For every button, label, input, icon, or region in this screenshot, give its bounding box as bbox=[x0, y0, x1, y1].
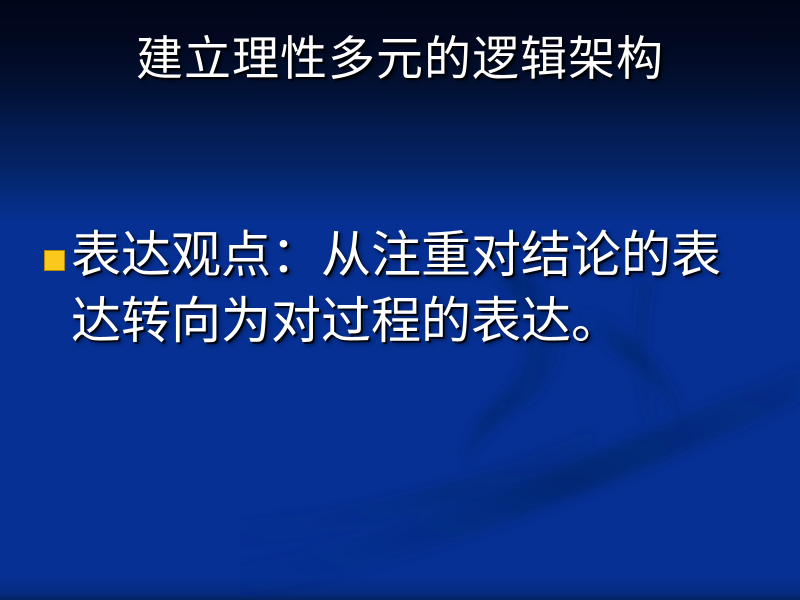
presentation-slide: 建立理性多元的逻辑架构 表达观点：从注重对结论的表达转向为对过程的表达。 bbox=[0, 0, 800, 600]
slide-title-text: 建立理性多元的逻辑架构 bbox=[136, 34, 664, 86]
slide-title: 建立理性多元的逻辑架构 bbox=[0, 34, 800, 86]
slide-body: 表达观点：从注重对结论的表达转向为对过程的表达。 bbox=[44, 222, 762, 354]
square-bullet-icon bbox=[44, 250, 65, 271]
bullet-paragraph-text: 表达观点：从注重对结论的表达转向为对过程的表达。 bbox=[71, 222, 762, 354]
bullet-list-item: 表达观点：从注重对结论的表达转向为对过程的表达。 bbox=[44, 222, 762, 354]
